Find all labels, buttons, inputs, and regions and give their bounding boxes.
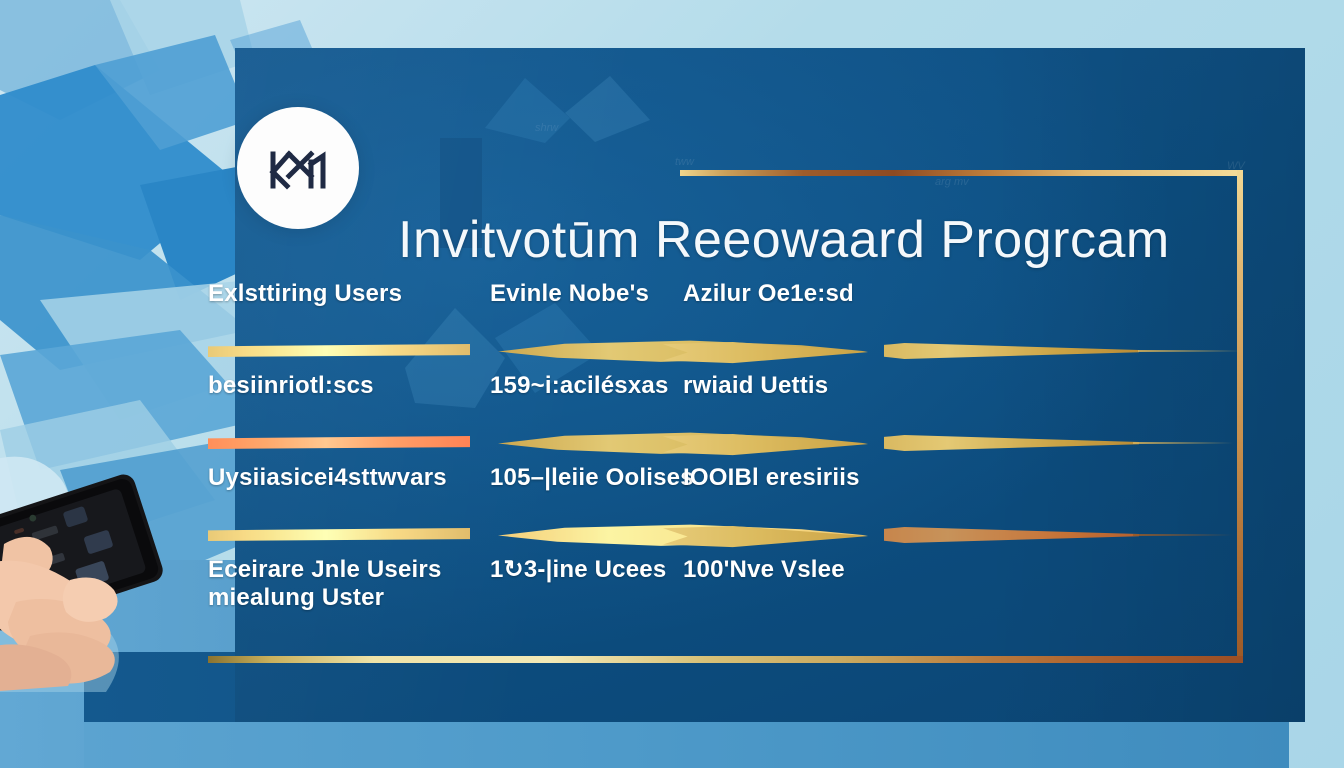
table-cell-invite-nodes: Evinle Nobe's: [490, 280, 649, 308]
divider-segment-accent: [884, 527, 1139, 543]
divider-segment: [884, 435, 1139, 451]
divider-segment: [208, 528, 470, 541]
table-cell-reward: Azilur Oe1e:sd: [683, 280, 854, 308]
divider-segment: [663, 526, 868, 548]
slide-canvas: shrw tww arg mv WV: [0, 0, 1344, 768]
divider-segment: [663, 434, 868, 456]
table-cell-existing-users: Exlsttiring Users: [208, 280, 402, 308]
divider-segment: [884, 343, 1139, 359]
kxn-monogram-icon: [267, 142, 329, 194]
table-cell-tier-count: 159~i:acilésxas: [490, 372, 669, 400]
table-row: besiinriotl:scs 159~i:acilésxas rwiaid U…: [208, 372, 1243, 464]
divider-hairline: [1133, 534, 1233, 536]
divider-segment-accent: [208, 436, 470, 449]
table-cell-tier-label: besiinriotl:scs: [208, 372, 374, 400]
table-cell-tier-count: 105–|leiie Oolises: [490, 464, 694, 492]
table-cell-tier-reward: 100'Nve Vslee: [683, 556, 845, 584]
divider-hairline: [1138, 350, 1243, 352]
rewards-table: Exlsttiring Users Evinle Nobe's Azilur O…: [208, 280, 1243, 636]
table-cell-tier-label: Uysiiasicei4sttwvars: [208, 464, 447, 492]
frame-bottom-rule: [208, 656, 1243, 663]
ghost-mark: arg mv: [935, 176, 969, 188]
page-title: Invitvotūm Reeowaard Progrcam: [398, 210, 1170, 270]
divider-1: [208, 326, 1243, 372]
table-row: Exlsttiring Users Evinle Nobe's Azilur O…: [208, 280, 1243, 372]
table-row: Eceirare Jnle Useirs miealung Uster 1↻3-…: [208, 556, 1243, 636]
table-row: Uysiiasicei4sttwvars 105–|leiie Oolises …: [208, 464, 1243, 556]
table-cell-tier-label: Eceirare Jnle Useirs miealung Uster: [208, 556, 442, 611]
panel-motif: [475, 58, 675, 148]
brand-logo[interactable]: [237, 107, 359, 229]
table-cell-tier-count: 1↻3-|ine Ucees: [490, 556, 666, 584]
frame-top-rule: [680, 170, 1243, 176]
table-cell-tier-reward: IOOIBl eresiriis: [683, 464, 860, 492]
divider-3: [208, 510, 1243, 556]
table-cell-tier-reward: rwiaid Uettis: [683, 372, 828, 400]
divider-segment: [663, 342, 868, 364]
hand-holding-phone-icon: [0, 452, 186, 692]
divider-hairline: [1133, 442, 1233, 444]
ghost-mark: tww: [675, 156, 694, 168]
divider-segment: [208, 344, 470, 357]
divider-2: [208, 418, 1243, 464]
